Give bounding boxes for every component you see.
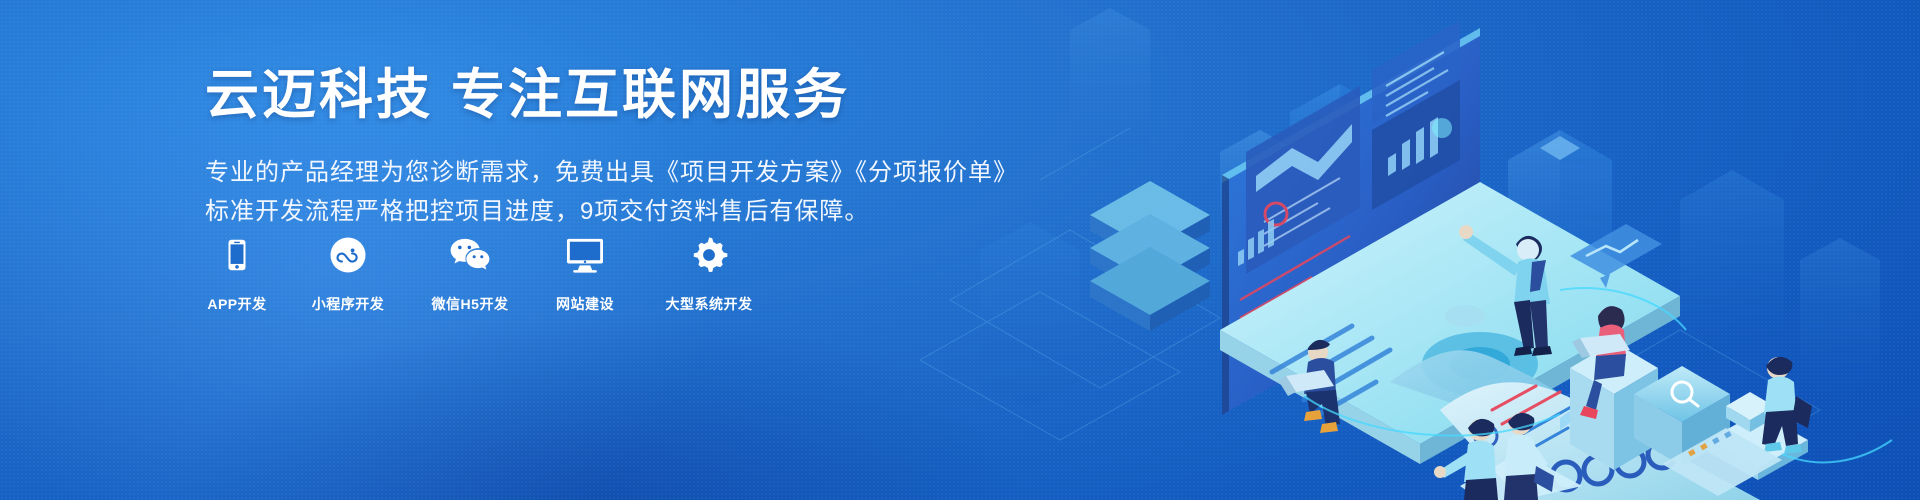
hero-copy: 云迈科技 专注互联网服务 专业的产品经理为您诊断需求，免费出具《项目开发方案》《… <box>205 64 1105 232</box>
person-walking-platform <box>1708 357 1812 480</box>
subtitle-line-2: 标准开发流程严格把控项目进度，9项交付资料售后有保障。 <box>205 193 1105 232</box>
service-item-large-system[interactable]: 大型系统开发 <box>657 232 761 314</box>
person-laptop-sitting <box>1278 340 1340 433</box>
service-label: 微信H5开发 <box>432 294 509 314</box>
subtitle-line-1: 专业的产品经理为您诊断需求，免费出具《项目开发方案》《分项报价单》 <box>205 154 1105 193</box>
service-item-miniprogram[interactable]: 小程序开发 <box>305 232 391 314</box>
wechat-icon <box>447 232 493 278</box>
server-stack-icon <box>1090 181 1210 331</box>
mini-program-icon <box>325 232 371 278</box>
service-item-website[interactable]: 网站建设 <box>549 232 621 314</box>
people-bottom-pair <box>1434 413 1582 500</box>
service-label: 大型系统开发 <box>666 294 753 314</box>
background-buildings <box>980 8 1880 408</box>
monitor-icon <box>562 232 608 278</box>
phone-platform <box>1220 182 1680 464</box>
report-paper <box>1390 350 1760 500</box>
service-label: 小程序开发 <box>312 294 385 314</box>
donut-chart-row <box>1552 440 1676 490</box>
page-title: 云迈科技 专注互联网服务 <box>205 64 1105 126</box>
connector-curve <box>1304 288 1892 462</box>
gear-icon <box>686 232 732 278</box>
mobile-phone-icon <box>214 232 260 278</box>
dashboard-screen <box>1222 20 1480 415</box>
service-label: APP开发 <box>207 294 266 314</box>
data-card-bottom <box>1662 428 1782 496</box>
service-item-app[interactable]: APP开发 <box>205 232 269 314</box>
hero-banner: 云迈科技 专注互联网服务 专业的产品经理为您诊断需求，免费出具《项目开发方案》《… <box>0 0 1920 500</box>
search-cube <box>1634 366 1730 466</box>
service-item-wechat-h5[interactable]: 微信H5开发 <box>427 232 513 314</box>
person-presenter <box>1459 225 1552 356</box>
service-label: 网站建设 <box>556 294 614 314</box>
person-pedestal-laptop <box>1570 224 1662 470</box>
hero-subtitle: 专业的产品经理为您诊断需求，免费出具《项目开发方案》《分项报价单》 标准开发流程… <box>205 154 1105 232</box>
service-list: APP开发 小程序开发 <box>205 232 761 314</box>
